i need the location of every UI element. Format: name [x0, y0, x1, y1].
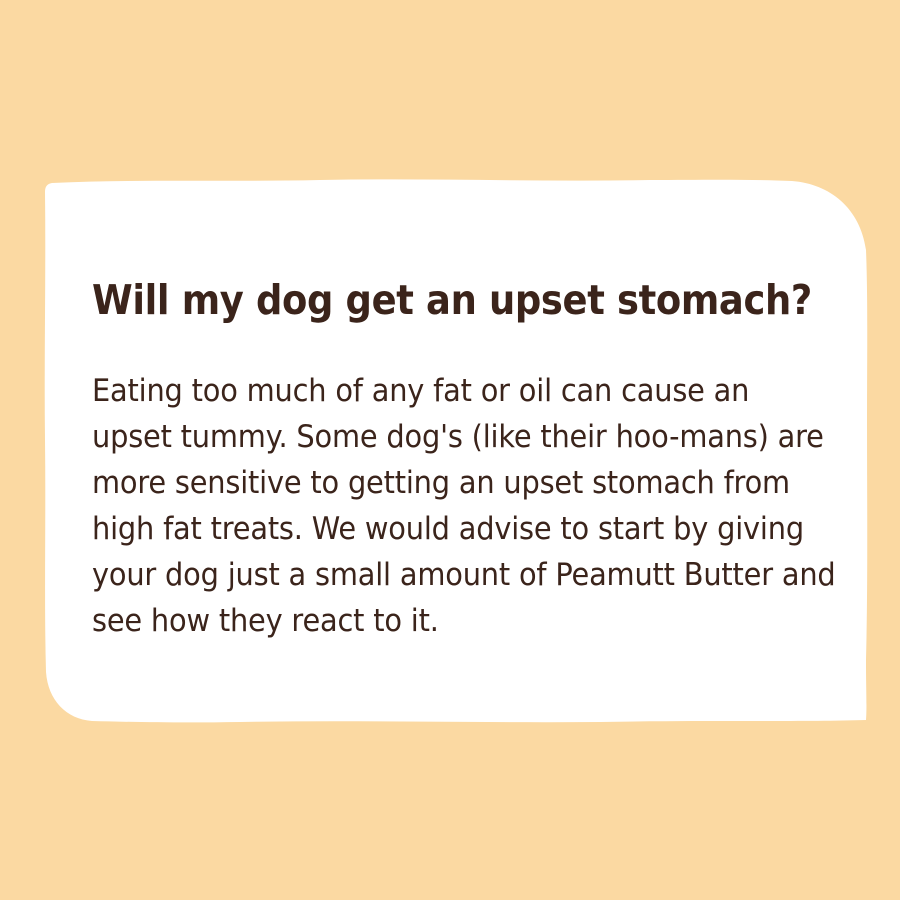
faq-card-canvas: Will my dog get an upset stomach? Eating…	[0, 0, 900, 900]
page-title: Will my dog get an upset stomach?	[92, 276, 740, 324]
faq-answer-text: Eating too much of any fat or oil can ca…	[92, 324, 836, 644]
card-content: Will my dog get an upset stomach? Eating…	[92, 276, 812, 644]
